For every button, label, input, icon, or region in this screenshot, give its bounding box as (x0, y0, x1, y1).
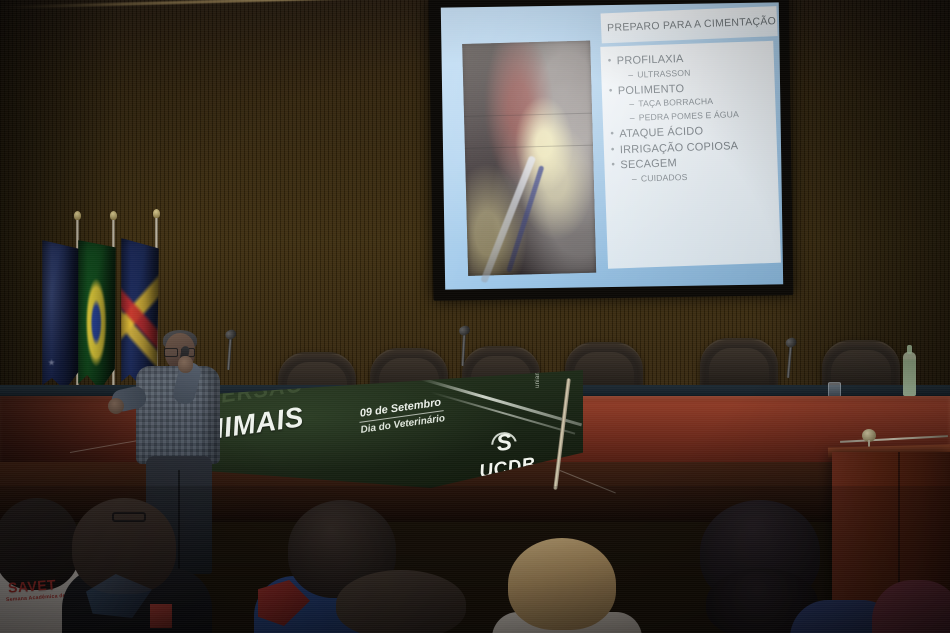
audience-hair-savet (0, 498, 80, 590)
presenter-leg-separation (178, 470, 180, 574)
bullet-marker: – (629, 100, 638, 110)
slide-bullet: – ULTRASSON (628, 66, 770, 81)
bullet-marker: • (608, 55, 617, 67)
bullet-text: ATAQUE ÁCIDO (619, 125, 703, 141)
water-bottle (903, 352, 916, 396)
flag-finial (153, 209, 160, 218)
bullet-marker: • (611, 159, 620, 171)
bullet-text: PROFILAXIA (617, 53, 684, 68)
flag-shading (78, 240, 116, 390)
slide-bullet: – TAÇA BORRACHA (629, 95, 771, 110)
flag-finial (74, 211, 81, 220)
bullet-marker: – (628, 70, 637, 80)
bullet-text: CUIDADOS (641, 173, 688, 184)
slide-title: PREPARO PARA A CIMENTAÇÃO (607, 15, 776, 34)
bullet-marker: • (611, 144, 620, 156)
bullet-text: IRRIGAÇÃO COPIOSA (620, 140, 739, 157)
audience-badge (150, 604, 172, 628)
audience-member-foreground-head (336, 570, 466, 633)
banner-date-block: 09 de Setembro Dia do Veterinário (357, 396, 445, 436)
projection-screen: PREPARO PARA A CIMENTAÇÃO • PROFILAXIA –… (441, 2, 783, 289)
flag-finial (110, 211, 117, 220)
lecture-hall-photo: PREPARO PARA A CIMENTAÇÃO • PROFILAXIA –… (0, 0, 950, 633)
slide-title-bar: PREPARO PARA A CIMENTAÇÃO (601, 6, 778, 43)
slide-content-panel: • PROFILAXIA – ULTRASSON • POLIMENTO – T… (600, 41, 781, 269)
bullet-marker: – (630, 114, 639, 124)
projection-screen-frame: PREPARO PARA A CIMENTAÇÃO • PROFILAXIA –… (429, 0, 794, 301)
presenter-left-hand (108, 398, 124, 414)
bullet-marker: • (609, 85, 618, 97)
banner-swoosh (431, 391, 576, 434)
savet-shirt-text: SAVET (8, 576, 57, 595)
flag-cloth-brazil (78, 240, 116, 390)
presenter-right-hand (178, 356, 193, 373)
ucdb-swirl-icon (490, 430, 519, 459)
bullet-text: POLIMENTO (618, 82, 685, 97)
audience-member-blonde-hair (508, 538, 616, 630)
bullet-text: ULTRASSON (637, 68, 691, 80)
flag-cloth-blue (42, 240, 80, 390)
slide-bullet: – PEDRA POMES E ÁGUA (630, 109, 772, 124)
bullet-text: SECAGEM (620, 157, 677, 172)
slide-bullet: – CUIDADOS (632, 170, 774, 185)
bullet-marker: • (610, 128, 619, 140)
slide-clinical-photo (462, 41, 596, 276)
audience-eyeglasses-icon (112, 512, 146, 522)
bullet-marker: – (632, 174, 641, 184)
flag-shading (42, 240, 80, 390)
bullet-text: TAÇA BORRACHA (638, 97, 713, 109)
bullet-text: PEDRA POMES E ÁGUA (639, 110, 739, 123)
